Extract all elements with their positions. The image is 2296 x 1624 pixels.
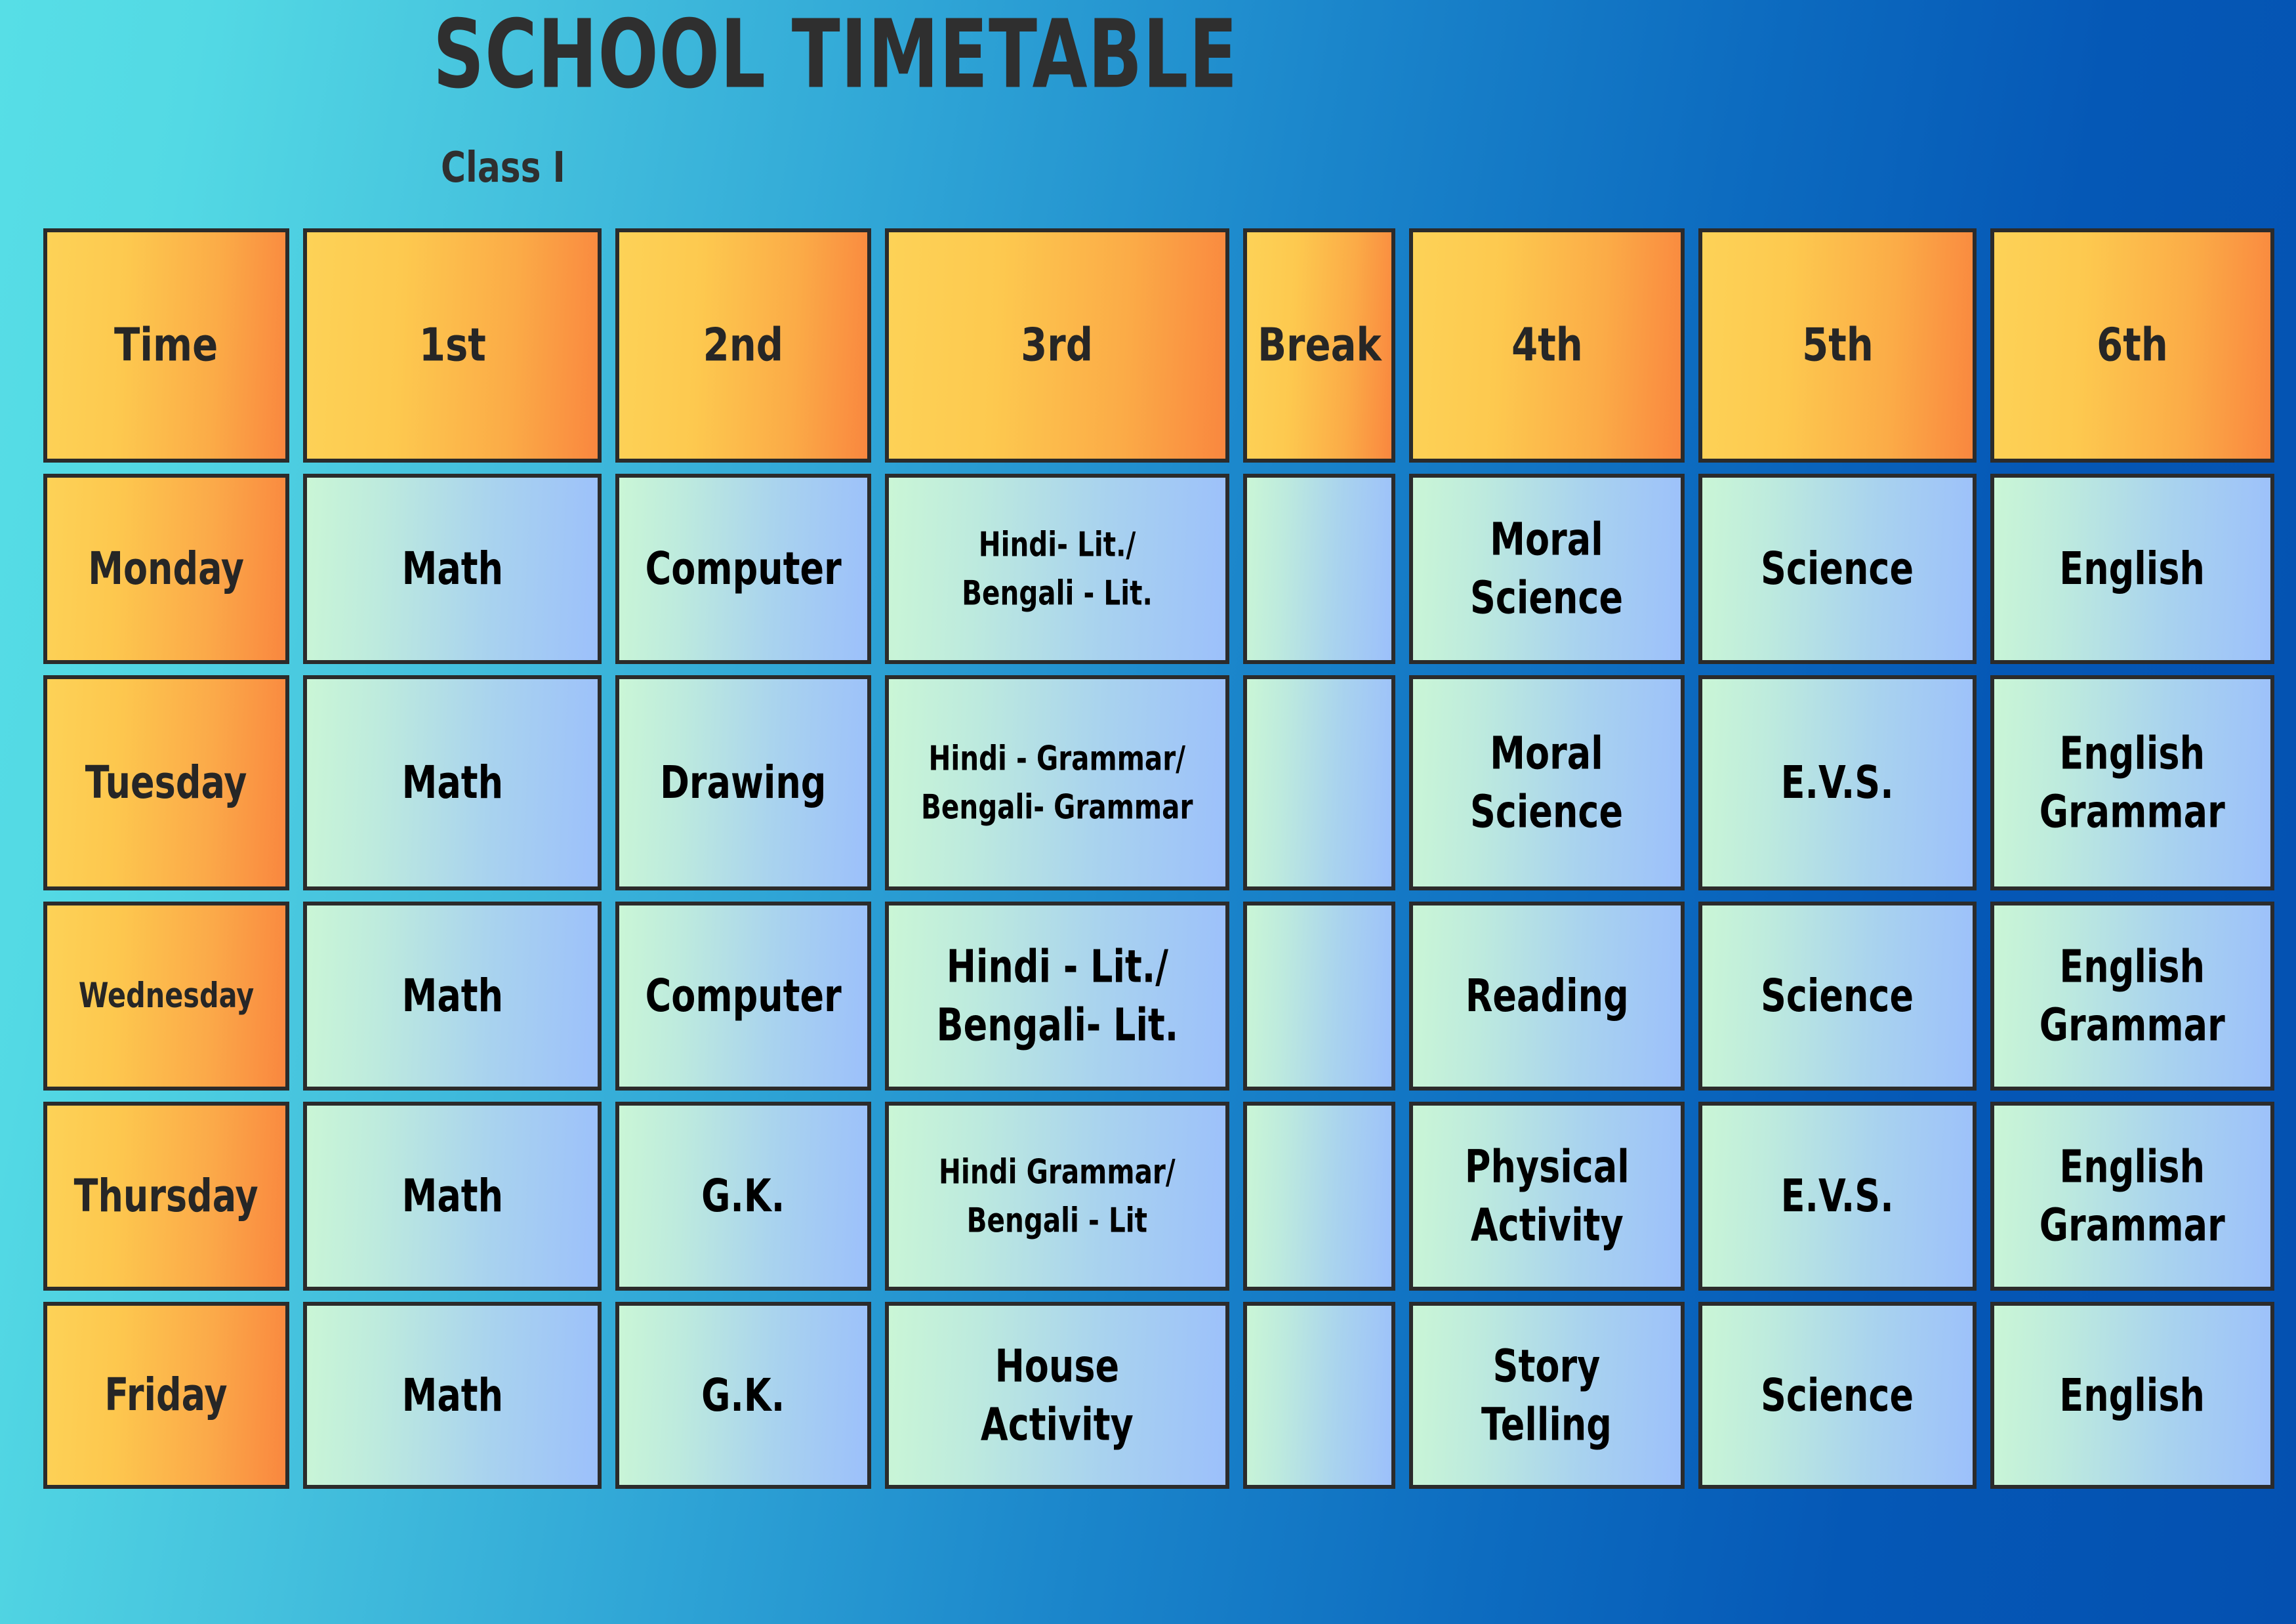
column-header-time: Time [43, 228, 289, 463]
page-title: SCHOOL TIMETABLE [433, 5, 1238, 104]
subject-label: Moral Science [1470, 724, 1623, 841]
column-header-label: Time [114, 322, 218, 369]
schedule-cell: Hindi Grammar/ Bengali - Lit [885, 1102, 1229, 1291]
column-header-label: 4th [1511, 322, 1583, 369]
subject-label: Science [1761, 967, 1914, 1026]
schedule-cell-break [1243, 1302, 1395, 1489]
schedule-cell: E.V.S. [1698, 675, 1977, 890]
day-label-cell: Thursday [43, 1102, 289, 1291]
page-subtitle: Class I [441, 143, 565, 192]
column-header-5th: 5th [1698, 228, 1977, 463]
subject-label: Science [1761, 1366, 1914, 1425]
schedule-cell: G.K. [615, 1102, 871, 1291]
subject-label: G.K. [701, 1167, 785, 1226]
subject-label: English Grammar [2040, 724, 2225, 841]
day-name: Tuesday [85, 759, 247, 806]
subject-label: Math [401, 1366, 502, 1425]
subject-label: Math [401, 754, 502, 812]
schedule-cell: Reading [1409, 902, 1685, 1091]
day-label-cell: Friday [43, 1302, 289, 1489]
schedule-cell: English Grammar [1990, 675, 2274, 890]
day-name: Friday [105, 1372, 228, 1419]
schedule-cell-break [1243, 474, 1395, 664]
schedule-cell: Science [1698, 1302, 1977, 1489]
subject-label: Math [401, 540, 502, 598]
day-name: Thursday [74, 1173, 258, 1219]
schedule-cell: English Grammar [1990, 902, 2274, 1091]
subject-label: English [2060, 1366, 2205, 1425]
schedule-cell-break [1243, 902, 1395, 1091]
column-header-3rd: 3rd [885, 228, 1229, 463]
subject-label: Computer [645, 540, 841, 598]
schedule-cell: Math [303, 474, 602, 664]
schedule-cell: Moral Science [1409, 474, 1685, 664]
timetable-grid: Time 1st 2nd 3rd Break 4th 5th 6th [43, 228, 2254, 1489]
subject-label: Hindi Grammar/ Bengali - Lit [939, 1148, 1176, 1245]
subject-label: Hindi - Grammar/ Bengali- Grammar [921, 734, 1193, 832]
subject-label: Physical Activity [1465, 1138, 1630, 1255]
title-block: SCHOOL TIMETABLE Class I [0, 0, 2296, 217]
column-header-4th: 4th [1409, 228, 1685, 463]
schedule-cell: Story Telling [1409, 1302, 1685, 1489]
subject-label: E.V.S. [1781, 1167, 1894, 1226]
day-name: Monday [89, 545, 245, 592]
subject-label: House Activity [981, 1337, 1134, 1454]
schedule-cell: E.V.S. [1698, 1102, 1977, 1291]
schedule-cell: Science [1698, 474, 1977, 664]
day-label-cell: Monday [43, 474, 289, 664]
day-name: Wednesday [79, 978, 254, 1014]
day-label-cell: Wednesday [43, 902, 289, 1091]
subject-label: Drawing [660, 754, 826, 812]
schedule-cell: Math [303, 1102, 602, 1291]
schedule-cell: English [1990, 474, 2274, 664]
subject-label: Hindi- Lit./ Bengali - Lit. [962, 520, 1153, 618]
day-label-cell: Tuesday [43, 675, 289, 890]
schedule-cell: Science [1698, 902, 1977, 1091]
subject-label: Math [401, 1167, 502, 1226]
column-header-label: Break [1258, 322, 1382, 369]
schedule-cell: Math [303, 902, 602, 1091]
subject-label: Science [1761, 540, 1914, 598]
column-header-label: 1st [419, 322, 485, 369]
schedule-cell: Hindi - Lit./ Bengali- Lit. [885, 902, 1229, 1091]
schedule-cell: Math [303, 1302, 602, 1489]
subject-label: Hindi - Lit./ Bengali- Lit. [936, 938, 1178, 1054]
subject-label: E.V.S. [1781, 754, 1894, 812]
schedule-cell: English [1990, 1302, 2274, 1489]
schedule-cell: Computer [615, 474, 871, 664]
schedule-cell: English Grammar [1990, 1102, 2274, 1291]
schedule-cell-break [1243, 1102, 1395, 1291]
subject-label: Reading [1466, 967, 1629, 1026]
column-header-label: 3rd [1021, 322, 1094, 369]
schedule-cell: Hindi- Lit./ Bengali - Lit. [885, 474, 1229, 664]
subject-label: Math [401, 967, 502, 1026]
schedule-cell: Drawing [615, 675, 871, 890]
schedule-cell: G.K. [615, 1302, 871, 1489]
subject-label: English Grammar [2040, 938, 2225, 1054]
column-header-1st: 1st [303, 228, 602, 463]
subject-label: English Grammar [2040, 1138, 2225, 1255]
column-header-label: 2nd [703, 322, 783, 369]
subject-label: English [2060, 540, 2205, 598]
subject-label: Moral Science [1470, 510, 1623, 627]
subject-label: G.K. [701, 1366, 785, 1425]
subject-label: Computer [645, 967, 841, 1026]
subject-label: Story Telling [1482, 1337, 1612, 1454]
timetable-poster: SCHOOL TIMETABLE Class I Time 1st 2nd 3r… [0, 0, 2296, 1624]
schedule-cell: Moral Science [1409, 675, 1685, 890]
column-header-break: Break [1243, 228, 1395, 463]
schedule-cell: Hindi - Grammar/ Bengali- Grammar [885, 675, 1229, 890]
schedule-cell: Physical Activity [1409, 1102, 1685, 1291]
column-header-label: 6th [2097, 322, 2168, 369]
schedule-cell: Math [303, 675, 602, 890]
schedule-cell-break [1243, 675, 1395, 890]
column-header-label: 5th [1802, 322, 1874, 369]
schedule-cell: Computer [615, 902, 871, 1091]
column-header-6th: 6th [1990, 228, 2274, 463]
schedule-cell: House Activity [885, 1302, 1229, 1489]
column-header-2nd: 2nd [615, 228, 871, 463]
